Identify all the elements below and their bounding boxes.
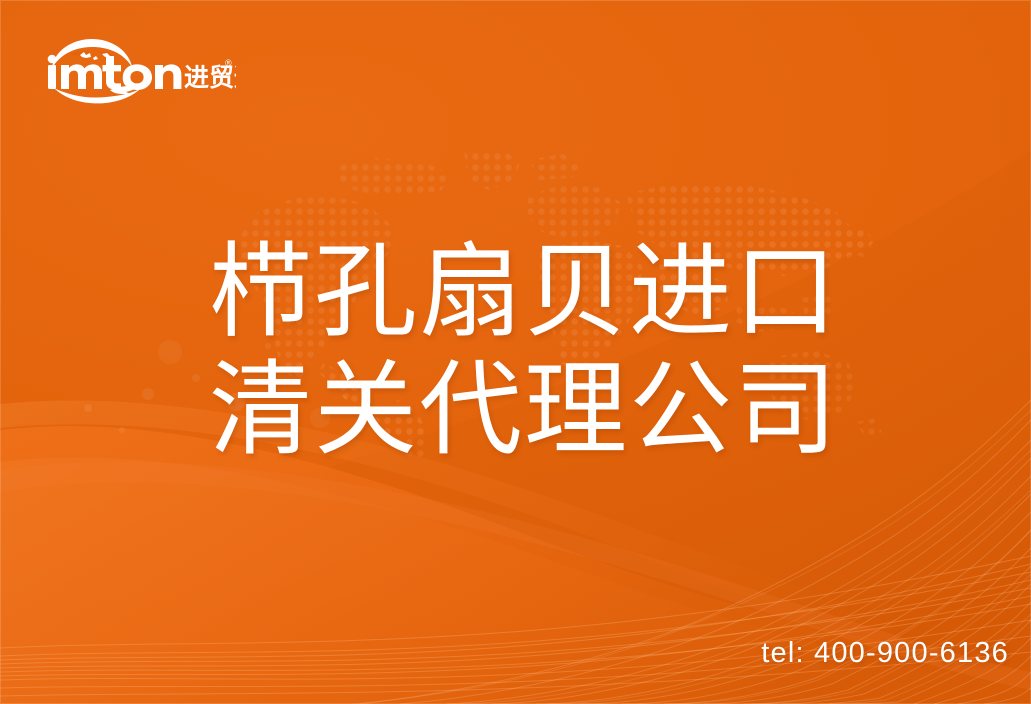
globe-arc-icon <box>52 39 132 68</box>
headline: 栉孔扇贝进口 清关代理公司 <box>209 233 849 469</box>
brand-logo[interactable]: imton 进贸通® <box>36 34 236 106</box>
promo-banner: imton 进贸通® <box>0 0 1031 704</box>
headline-line-2: 清关代理公司 <box>209 351 849 469</box>
registered-trademark-icon: ® <box>225 58 232 68</box>
logo-wordmark-latin <box>48 55 182 90</box>
headline-line-1: 栉孔扇贝进口 <box>209 233 849 351</box>
logo-wordmark-chinese: 进贸通 <box>184 64 236 92</box>
contact-phone[interactable]: tel: 400-900-6136 <box>761 636 1009 670</box>
